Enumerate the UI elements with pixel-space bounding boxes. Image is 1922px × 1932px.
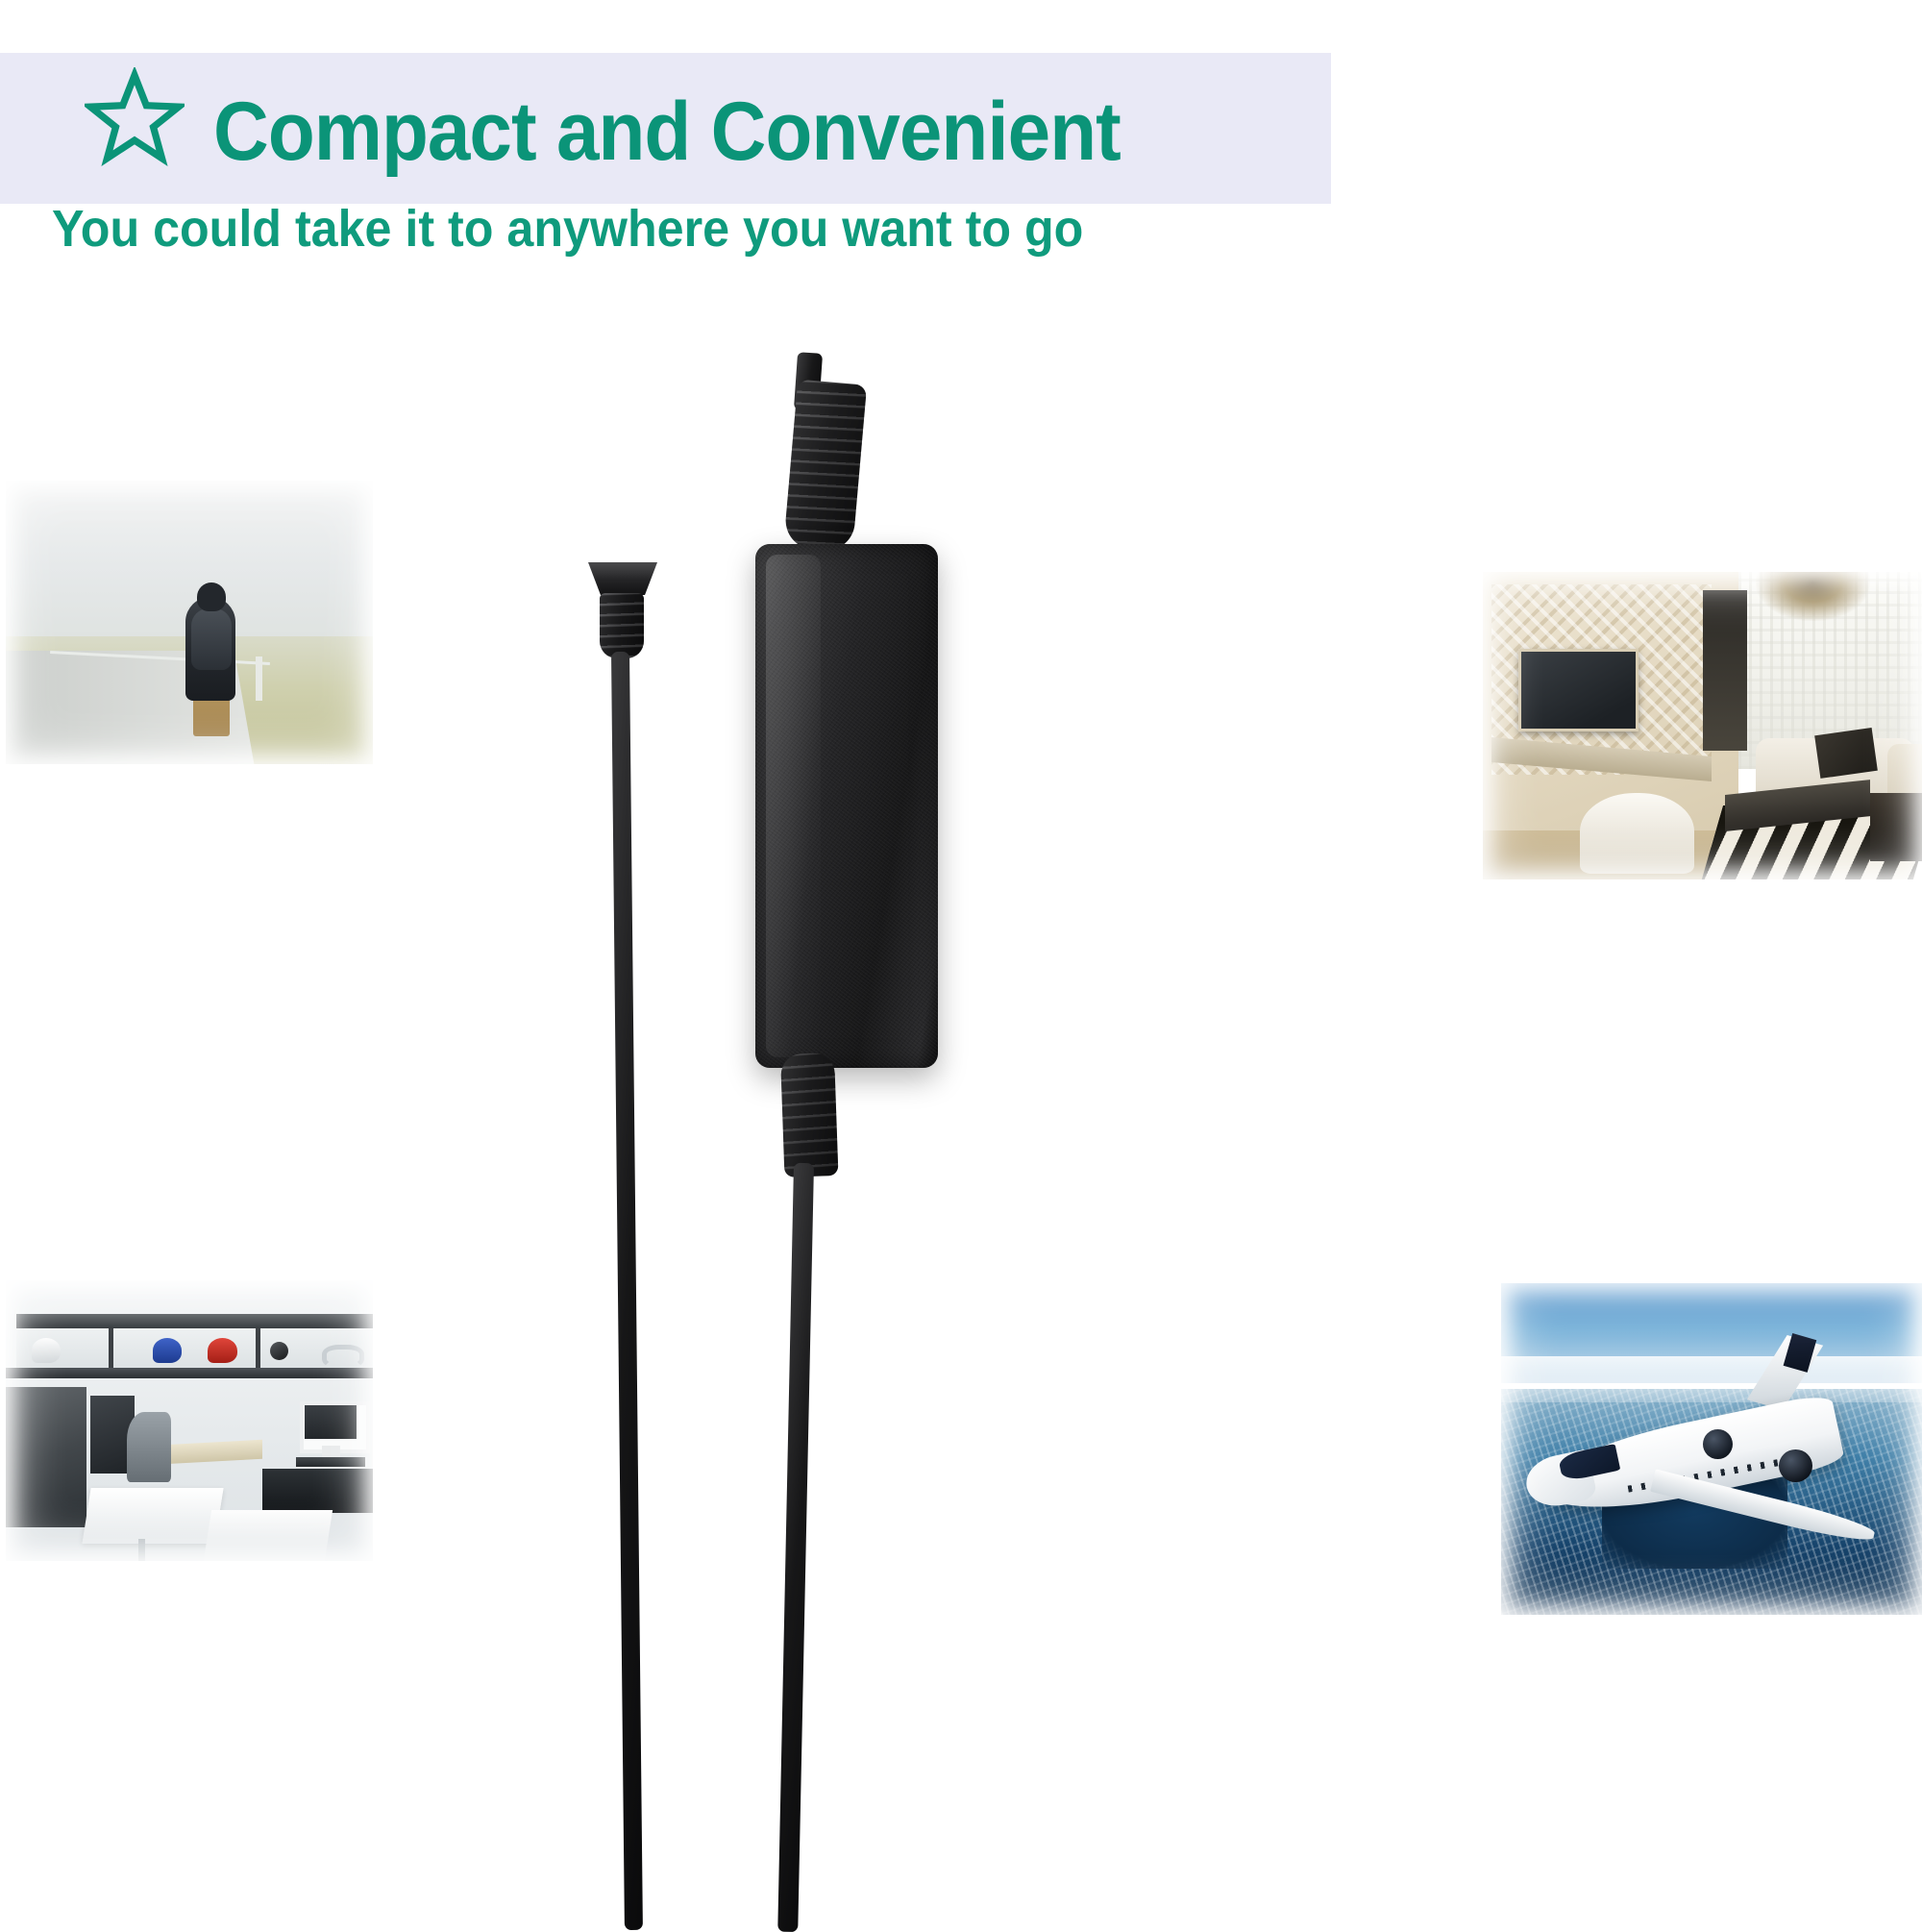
chandelier	[1756, 572, 1870, 621]
red-bird-figurine	[208, 1338, 237, 1363]
airplane-photo	[1501, 1283, 1922, 1615]
dark-pillow	[1814, 728, 1877, 779]
white-bird-figurine	[32, 1338, 62, 1363]
page-subtitle: You could take it to anywhere you want t…	[52, 188, 1083, 269]
adapter-brick	[755, 544, 938, 1068]
keyboard	[296, 1457, 366, 1467]
round-lounge-chair	[1580, 793, 1694, 873]
wall-mounted-tv	[1518, 649, 1639, 731]
shelf-hook-ornament	[322, 1345, 364, 1369]
star-outline-icon	[85, 67, 185, 167]
dc-cord	[611, 652, 643, 1930]
desk-leg	[138, 1539, 146, 1561]
dark-desk-right	[262, 1469, 373, 1514]
output-cord	[777, 1163, 814, 1932]
marketing-banner: Compact and Convenient You could take it…	[0, 0, 1922, 1922]
office-chair	[127, 1412, 171, 1482]
page-title: Compact and Convenient	[213, 60, 1121, 204]
living-room-photo	[1483, 572, 1922, 879]
dc-barrel-connector	[588, 562, 657, 595]
dark-furniture-right	[1870, 793, 1922, 860]
shelf-backing	[16, 1328, 373, 1368]
shelf-top-rail	[16, 1314, 373, 1328]
hiker-on-road-photo	[6, 481, 373, 764]
office-workspace-photo	[6, 1280, 373, 1561]
brick-highlight	[766, 555, 821, 1057]
strain-relief-ribs	[780, 1053, 838, 1177]
monitor-right-screen	[305, 1405, 356, 1439]
dark-wall-panel	[1703, 590, 1747, 750]
shelf-divider-right	[256, 1328, 260, 1368]
strain-relief-ribs	[783, 380, 867, 554]
roadside-post	[256, 656, 262, 701]
strain-relief-ribs	[600, 593, 644, 658]
horizon-haze	[1501, 1356, 1922, 1402]
shelf-bottom-rail	[6, 1368, 373, 1379]
white-desk-second	[204, 1510, 333, 1561]
airplane-engine-near	[1779, 1449, 1812, 1483]
airplane-engine-far	[1703, 1429, 1733, 1459]
blue-bird-figurine	[153, 1338, 183, 1363]
hiker-backpack	[191, 608, 232, 670]
dark-partition-panel	[6, 1387, 86, 1527]
white-desk-front	[82, 1488, 223, 1544]
shelf-divider-left	[109, 1328, 113, 1368]
dc-connector-strain-relief	[600, 593, 644, 658]
output-strain-relief	[780, 1053, 838, 1177]
hiker-hood	[197, 582, 226, 611]
ac-strain-relief	[783, 380, 867, 554]
